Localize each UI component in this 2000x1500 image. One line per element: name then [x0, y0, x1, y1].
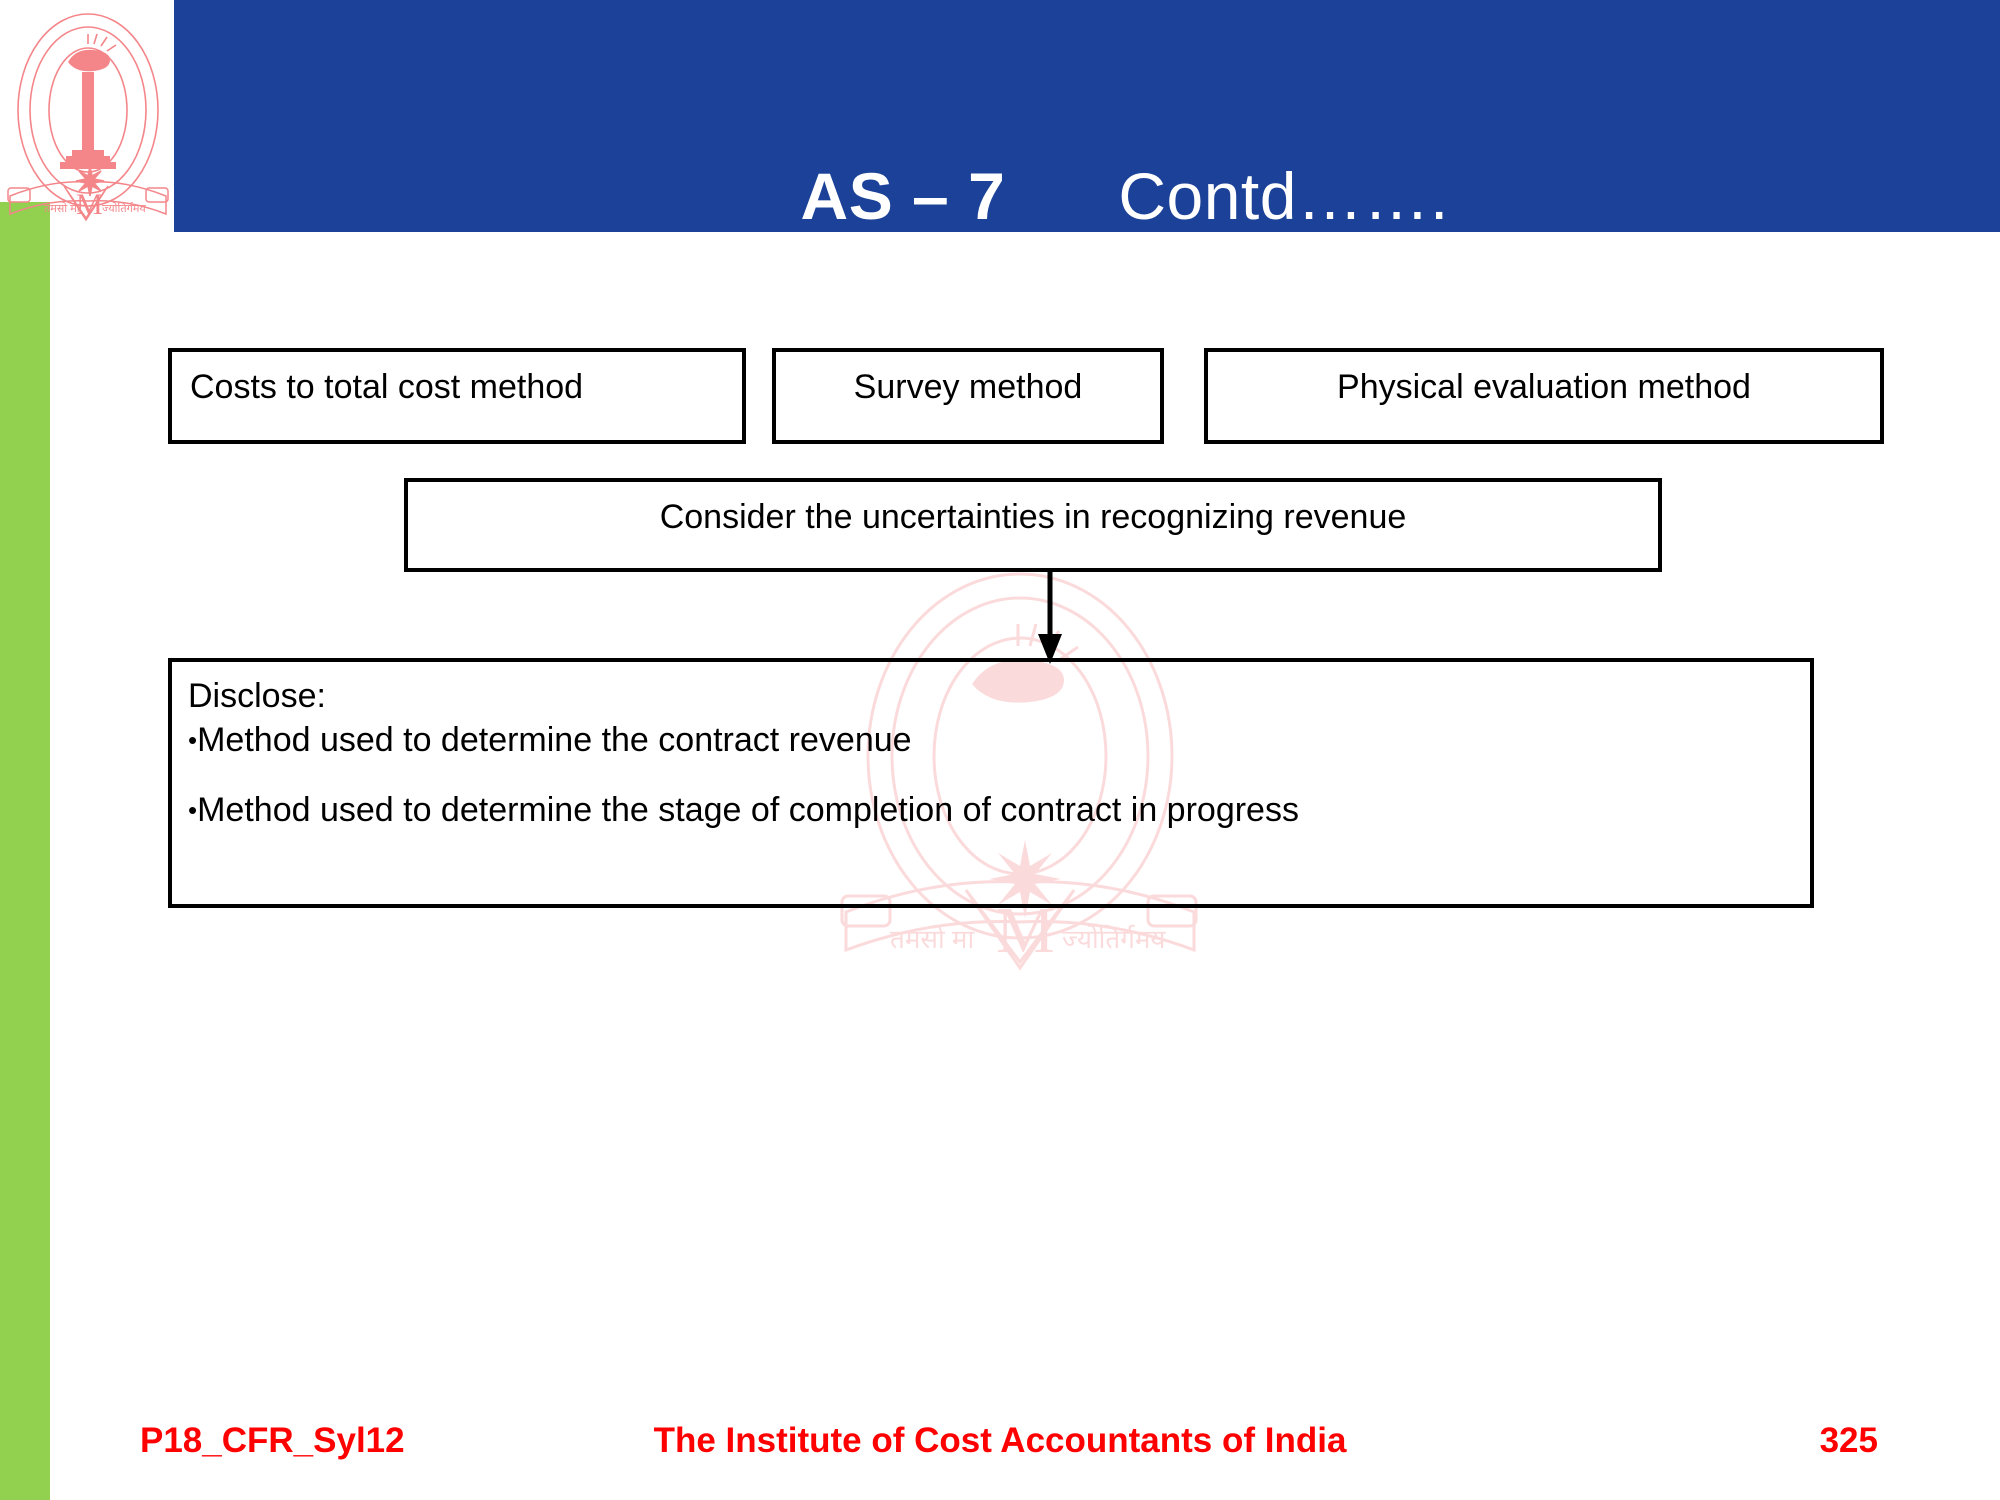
disclose-bullet-text: Method used to determine the stage of co…	[197, 791, 1299, 829]
disclose-heading: Disclose:	[188, 674, 1794, 718]
svg-text:तमसो मा: तमसो मा	[890, 924, 975, 954]
footer-institute-name: The Institute of Cost Accountants of Ind…	[0, 1418, 2000, 1463]
bullet-icon: •	[188, 725, 197, 755]
consider-uncertainties-box[interactable]: Consider the uncertainties in recognizin…	[404, 478, 1662, 572]
slide-canvas: AS – 7 Contd…….	[0, 0, 2000, 1500]
institute-logo: तमसो मा ज्योतिर्गमय M	[2, 0, 174, 232]
footer-page-number: 325	[1820, 1418, 1878, 1463]
page-title: AS – 7 Contd…….	[174, 76, 2000, 316]
disclose-box[interactable]: Disclose: •Method used to determine the …	[168, 658, 1814, 908]
logo-monogram: M	[76, 188, 103, 221]
disclose-bullet-item: •Method used to determine the stage of c…	[188, 788, 1794, 832]
disclose-bullet-item: •Method used to determine the contract r…	[188, 718, 1794, 762]
page-title-main: AS – 7	[801, 159, 1006, 233]
slide-footer: P18_CFR_Syl12 The Institute of Cost Acco…	[0, 1418, 2000, 1478]
method-box-label: Physical evaluation method	[1226, 366, 1862, 408]
disclose-bullet-text: Method used to determine the contract re…	[197, 721, 911, 759]
method-box-costs-to-total-cost[interactable]: Costs to total cost method	[168, 348, 746, 444]
svg-text:ज्योतिर्गमय: ज्योतिर्गमय	[1062, 924, 1166, 954]
down-arrow-icon	[1030, 572, 1070, 664]
page-title-gap	[1005, 159, 1118, 233]
page-title-contd: Contd…….	[1118, 159, 1448, 233]
method-box-survey[interactable]: Survey method	[772, 348, 1164, 444]
method-box-physical-evaluation[interactable]: Physical evaluation method	[1204, 348, 1884, 444]
left-accent-stripe	[0, 202, 50, 1500]
logo-motto-right: ज्योतिर्गमय	[102, 202, 146, 215]
bullet-icon: •	[188, 795, 197, 825]
method-box-label: Costs to total cost method	[190, 366, 724, 408]
consider-uncertainties-label: Consider the uncertainties in recognizin…	[426, 496, 1640, 538]
logo-motto-left: तमसो मा	[44, 202, 80, 215]
method-box-label: Survey method	[794, 366, 1142, 408]
